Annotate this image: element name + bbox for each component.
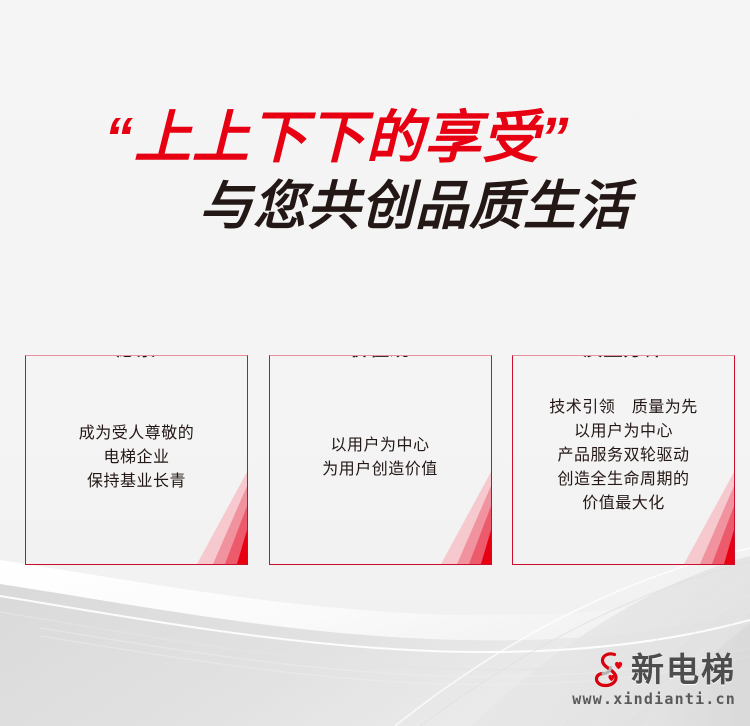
headline-line-primary: “上上下下的享受” xyxy=(0,104,712,172)
headline: “上上下下的享受” 与您共创品质生活 xyxy=(0,104,750,240)
card-vision-line: 保持基业长青 xyxy=(26,470,247,494)
value-cards-row: 愿景 成为受人尊敬的 电梯企业 保持基业长青 价值观 xyxy=(25,355,735,565)
card-quality-policy-line: 价值最大化 xyxy=(513,492,734,516)
card-quality-policy-line: 创造全生命周期的 xyxy=(513,468,734,492)
card-quality-policy-line: 以用户为中心 xyxy=(513,420,734,444)
card-quality-policy-body: 技术引领 质量为先 以用户为中心 产品服务双轮驱动 创造全生命周期的 价值最大化 xyxy=(513,396,734,516)
brand-url: www.xindianti.cn xyxy=(572,691,736,708)
headline-line-secondary: 与您共创品质生活 xyxy=(40,174,750,240)
card-vision: 愿景 成为受人尊敬的 电梯企业 保持基业长青 xyxy=(25,355,248,565)
poster-canvas: “上上下下的享受” 与您共创品质生活 愿景 成为受人尊敬的 电梯企业 保持基业长… xyxy=(0,0,750,726)
logo-row: 新电梯 xyxy=(590,650,736,690)
card-values-title-wrap: 价值观 xyxy=(270,355,491,362)
card-values-line: 为用户创造价值 xyxy=(270,458,491,482)
card-vision-title: 愿景 xyxy=(107,355,165,362)
card-vision-body: 成为受人尊敬的 电梯企业 保持基业长青 xyxy=(26,422,247,494)
footer-logo[interactable]: 新电梯 www.xindianti.cn xyxy=(572,650,736,708)
card-quality-policy-line: 技术引领 质量为先 xyxy=(513,396,734,420)
card-vision-title-wrap: 愿景 xyxy=(26,355,247,362)
card-corner-decoration xyxy=(405,472,491,564)
card-quality-policy: 质量方针 技术引领 质量为先 以用户为中心 产品服务双轮驱动 创造全生命周期的 … xyxy=(512,355,735,565)
card-vision-line: 成为受人尊敬的 xyxy=(26,422,247,446)
card-values: 价值观 以用户为中心 为用户创造价值 xyxy=(269,355,492,565)
brand-name: 新电梯 xyxy=(631,652,736,688)
card-values-title: 价值观 xyxy=(341,355,419,362)
card-values-line: 以用户为中心 xyxy=(270,434,491,458)
card-quality-policy-title: 质量方针 xyxy=(574,355,672,362)
card-values-body: 以用户为中心 为用户创造价值 xyxy=(270,434,491,482)
xindianti-ampersand-icon xyxy=(590,650,626,690)
card-vision-line: 电梯企业 xyxy=(26,446,247,470)
card-quality-policy-title-wrap: 质量方针 xyxy=(513,355,734,362)
card-quality-policy-line: 产品服务双轮驱动 xyxy=(513,444,734,468)
